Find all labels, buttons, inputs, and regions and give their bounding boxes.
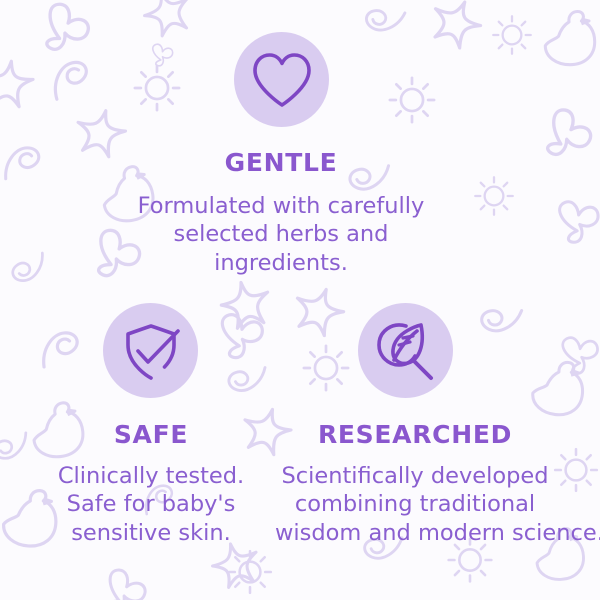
leaf-magnifier-icon <box>373 319 439 383</box>
safe-icon-badge <box>103 303 198 398</box>
shield-check-icon <box>118 320 184 382</box>
safe-desc-line-1: Clinically tested. <box>26 462 276 490</box>
gentle-icon-badge <box>234 32 329 127</box>
safe-title: SAFE <box>51 422 251 447</box>
researched-icon-badge <box>358 303 453 398</box>
safe-description: Clinically tested. Safe for baby's sensi… <box>26 462 276 547</box>
safe-desc-line-3: sensitive skin. <box>26 519 276 547</box>
gentle-desc-line-3: ingredients. <box>131 249 431 277</box>
feature-highlights-panel: GENTLE Formulated with carefully selecte… <box>0 0 600 600</box>
gentle-title: GENTLE <box>181 150 381 175</box>
researched-desc-line-2: combining traditional <box>275 490 555 518</box>
gentle-desc-line-1: Formulated with carefully <box>131 192 431 220</box>
researched-desc-line-3: wisdom and modern science. <box>275 519 555 547</box>
researched-desc-line-1: Scientifically developed <box>275 462 555 490</box>
researched-description: Scientifically developed combining tradi… <box>275 462 555 547</box>
gentle-description: Formulated with carefully selected herbs… <box>131 192 431 277</box>
researched-title: RESEARCHED <box>305 422 525 447</box>
heart-icon <box>251 51 313 109</box>
gentle-desc-line-2: selected herbs and <box>131 220 431 248</box>
safe-desc-line-2: Safe for baby's <box>26 490 276 518</box>
